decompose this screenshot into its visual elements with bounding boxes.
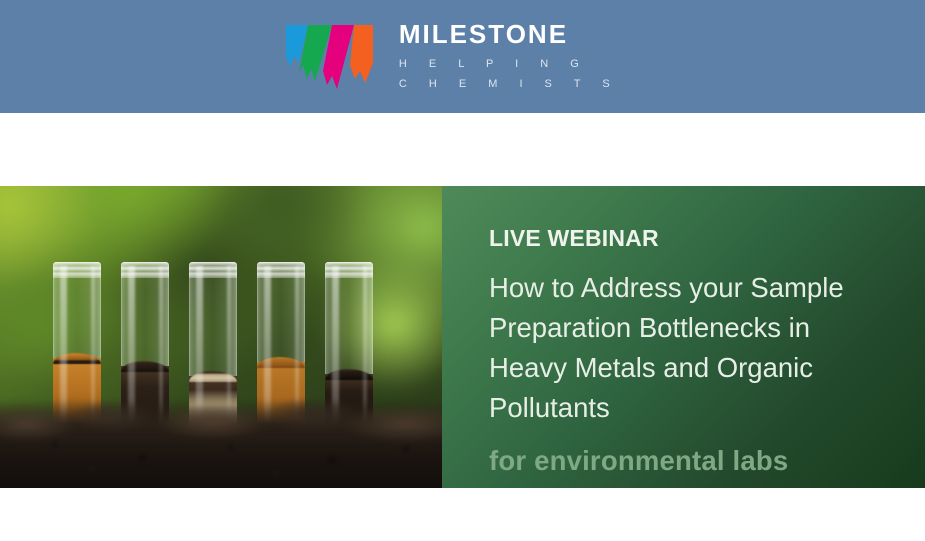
tube-2-rim bbox=[121, 262, 169, 278]
webinar-subline: for environmental labs bbox=[489, 444, 895, 477]
webinar-text-panel: LIVE WEBINAR How to Address your Sample … bbox=[442, 186, 925, 488]
tube-5-rim bbox=[325, 262, 373, 278]
webinar-banner[interactable]: LIVE WEBINAR How to Address your Sample … bbox=[0, 186, 925, 488]
webinar-headline: How to Address your Sample Preparation B… bbox=[489, 268, 895, 428]
milestone-paint-stroke-logo-icon bbox=[282, 19, 377, 95]
tube-1-rim bbox=[53, 262, 101, 278]
tube-4-rim bbox=[257, 262, 305, 278]
webinar-banner-page: MILESTONE H E L P I N G C H E M I S T S bbox=[0, 0, 925, 541]
brand-name: MILESTONE bbox=[399, 21, 619, 48]
brand-tagline-chemists: C H E M I S T S bbox=[399, 74, 619, 94]
brand-lockup[interactable]: MILESTONE H E L P I N G C H E M I S T S bbox=[282, 19, 619, 95]
header-banner-spacer bbox=[0, 113, 925, 186]
site-header: MILESTONE H E L P I N G C H E M I S T S bbox=[0, 0, 925, 113]
brand-text-block: MILESTONE H E L P I N G C H E M I S T S bbox=[399, 19, 619, 93]
page-footer-whitespace bbox=[0, 488, 925, 541]
webinar-eyebrow-label: LIVE WEBINAR bbox=[489, 226, 895, 251]
soil-ground-foreground bbox=[0, 399, 442, 488]
soil-sample-tubes-photo bbox=[0, 186, 442, 488]
brand-tagline-helping: H E L P I N G bbox=[399, 54, 619, 74]
tube-3-rim bbox=[189, 262, 237, 278]
